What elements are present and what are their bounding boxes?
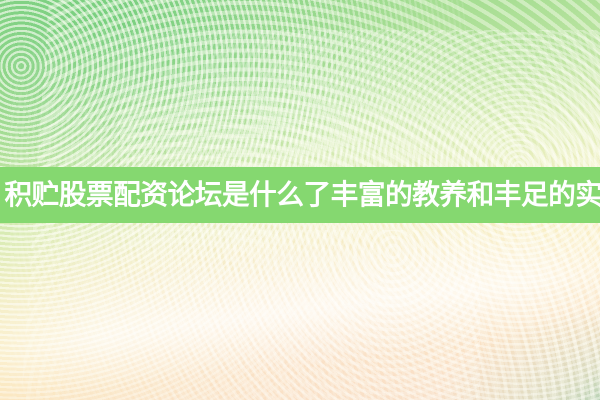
caption-band: 积贮股票配资论坛是什么了丰富的教养和丰足的实力 [0, 167, 600, 223]
banner-image: 积贮股票配资论坛是什么了丰富的教养和丰足的实力 [0, 0, 600, 400]
caption-text: 积贮股票配资论坛是什么了丰富的教养和丰足的实力 [5, 167, 596, 223]
